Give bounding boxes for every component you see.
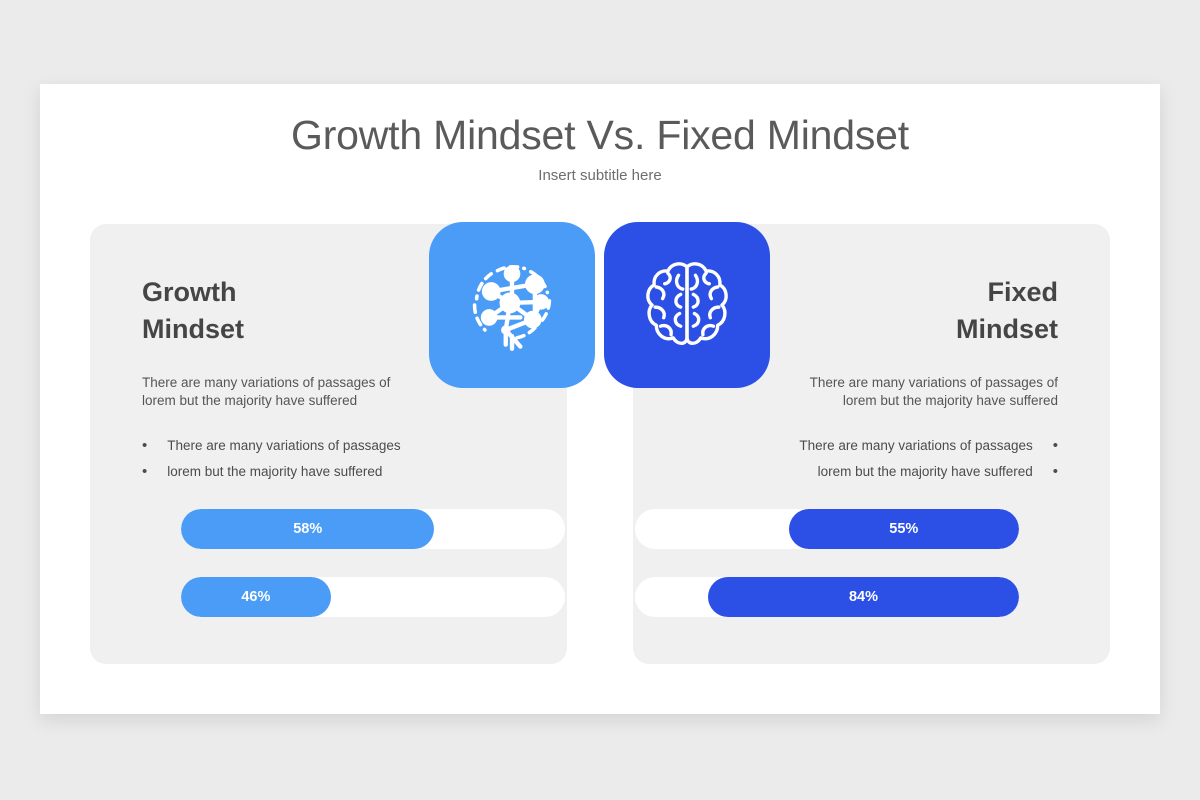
- progress-label-growth-1: 58%: [293, 521, 322, 537]
- progress-track-fixed-2: 84%: [635, 577, 1019, 617]
- card-growth-heading-line1: Growth: [142, 274, 244, 311]
- card-growth-bullet-list: • There are many variations of passages …: [142, 432, 472, 484]
- progress-track-growth-2: 46%: [181, 577, 565, 617]
- card-fixed-bullet-list: • There are many variations of passages …: [728, 432, 1058, 484]
- progress-label-growth-2: 46%: [241, 589, 270, 605]
- icon-tile-growth[interactable]: [429, 222, 595, 388]
- icon-tile-fixed[interactable]: [604, 222, 770, 388]
- card-fixed-heading-line1: Fixed: [956, 274, 1058, 311]
- bullet-dot-icon: •: [142, 438, 147, 453]
- bullet-dot-icon: •: [1053, 438, 1058, 453]
- bullet-dot-icon: •: [1053, 464, 1058, 479]
- progress-fill-fixed-1[interactable]: 55%: [789, 509, 1019, 549]
- slide-canvas: Growth Mindset Vs. Fixed Mindset Insert …: [40, 84, 1160, 714]
- page-subtitle: Insert subtitle here: [40, 167, 1160, 184]
- card-fixed-paragraph: There are many variations of passages of…: [786, 374, 1058, 410]
- card-growth-heading: Growth Mindset: [142, 274, 244, 348]
- neural-network-brain-icon: [460, 253, 564, 357]
- list-item: • lorem but the majority have suffered: [728, 458, 1058, 484]
- progress-label-fixed-1: 55%: [889, 521, 918, 537]
- bullet-dot-icon: •: [142, 464, 147, 479]
- anatomical-brain-icon: [634, 252, 740, 358]
- progress-fill-growth-1[interactable]: 58%: [181, 509, 434, 549]
- progress-track-growth-1: 58%: [181, 509, 565, 549]
- progress-fill-growth-2[interactable]: 46%: [181, 577, 331, 617]
- list-item-label: There are many variations of passages: [167, 438, 400, 453]
- progress-fill-fixed-2[interactable]: 84%: [708, 577, 1019, 617]
- page-title: Growth Mindset Vs. Fixed Mindset: [40, 112, 1160, 159]
- list-item-label: lorem but the majority have suffered: [167, 464, 382, 479]
- list-item-label: There are many variations of passages: [799, 438, 1032, 453]
- progress-track-fixed-1: 55%: [635, 509, 1019, 549]
- list-item: • lorem but the majority have suffered: [142, 458, 472, 484]
- card-growth-heading-line2: Mindset: [142, 311, 244, 348]
- progress-label-fixed-2: 84%: [849, 589, 878, 605]
- card-fixed-heading-line2: Mindset: [956, 311, 1058, 348]
- list-item: • There are many variations of passages: [728, 432, 1058, 458]
- list-item: • There are many variations of passages: [142, 432, 472, 458]
- card-fixed-heading: Fixed Mindset: [956, 274, 1058, 348]
- list-item-label: lorem but the majority have suffered: [818, 464, 1033, 479]
- card-growth-paragraph: There are many variations of passages of…: [142, 374, 414, 410]
